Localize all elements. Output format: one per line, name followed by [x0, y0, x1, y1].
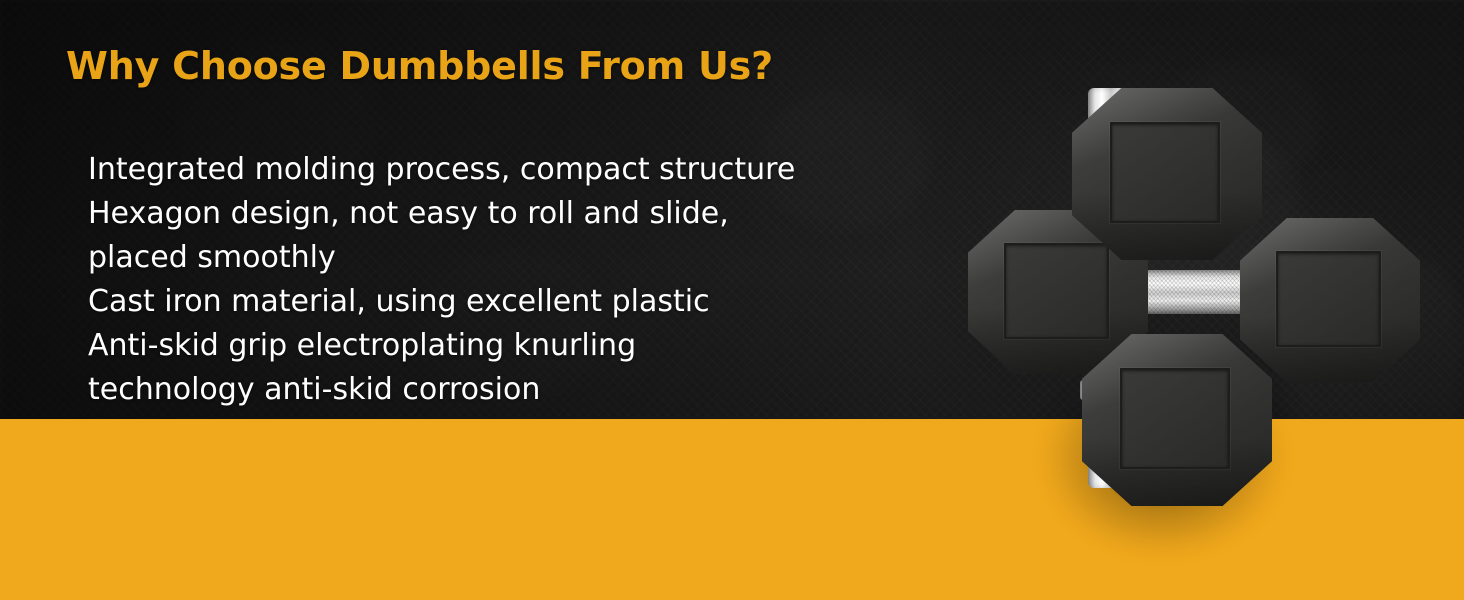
feature-list: Integrated molding process, compact stru…: [88, 148, 808, 412]
feature-item: Hexagon design, not easy to roll and sli…: [88, 192, 808, 280]
dumbbell-product-image: [960, 58, 1400, 518]
head-inset-panel: [1120, 368, 1230, 468]
head-inset-panel: [1110, 122, 1220, 222]
dumbbell-head-right: [1240, 218, 1420, 382]
feature-item: Cast iron material, using excellent plas…: [88, 280, 808, 324]
head-inset-panel: [1276, 251, 1381, 347]
dumbbell-head-bottom: [1082, 334, 1272, 506]
dumbbell-head-top: [1072, 88, 1262, 260]
head-inset-panel: [1004, 243, 1109, 339]
promo-banner: Why Choose Dumbbells From Us? Integrated…: [0, 0, 1464, 600]
feature-item: Integrated molding process, compact stru…: [88, 148, 808, 192]
page-title: Why Choose Dumbbells From Us?: [66, 44, 773, 88]
feature-item: Anti-skid grip electroplating knurling t…: [88, 324, 808, 412]
